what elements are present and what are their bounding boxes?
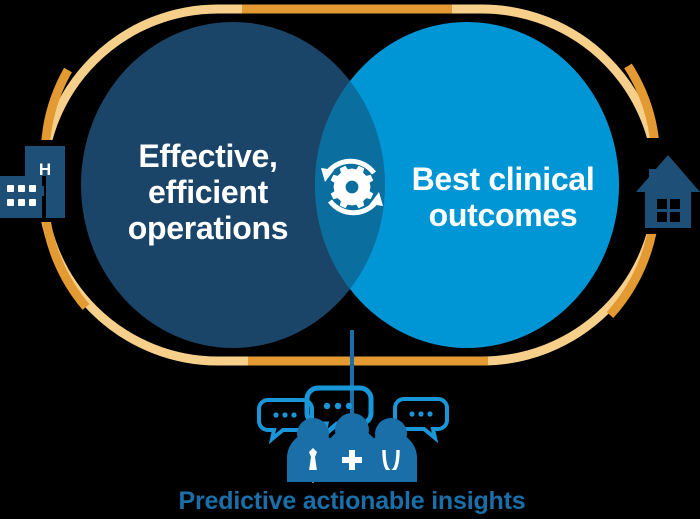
right-circle-line-1: Best clinical (412, 161, 595, 197)
hospital-letter: H (39, 160, 51, 179)
venn-diagram-svg: Effective, efficient operations Best cli… (0, 0, 700, 519)
house-icon[interactable] (636, 155, 700, 228)
left-circle-line-1: Effective, (138, 138, 277, 174)
left-circle-line-2: efficient (148, 174, 269, 210)
left-circle-label: Effective, efficient operations (128, 138, 289, 246)
hospital-icon[interactable]: H (0, 146, 65, 218)
right-circle-line-2: outcomes (429, 197, 578, 233)
diagram-canvas: Effective, efficient operations Best cli… (0, 0, 700, 519)
left-circle-line-3: operations (128, 210, 289, 246)
caption-text: Predictive actionable insights (179, 487, 526, 515)
right-circle-label: Best clinical outcomes (412, 161, 595, 233)
